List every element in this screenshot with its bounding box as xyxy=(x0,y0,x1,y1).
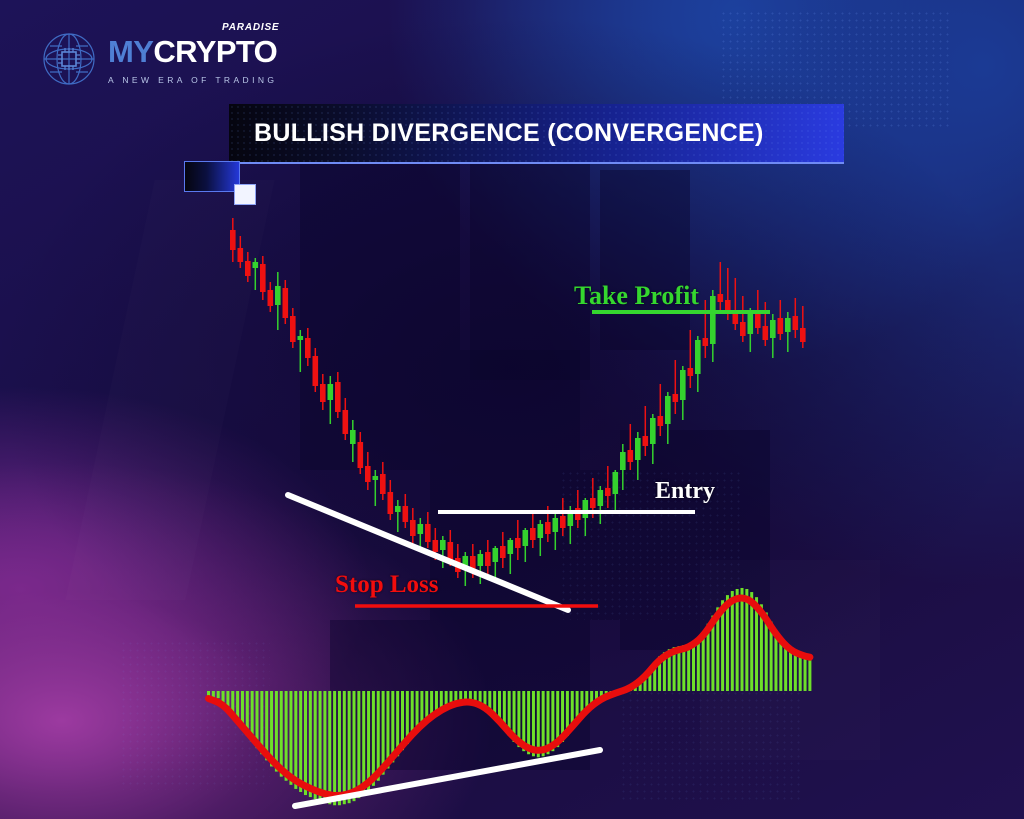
entry-label: Entry xyxy=(655,478,715,505)
macd-histogram-series xyxy=(207,588,811,805)
chart-layer xyxy=(0,0,1024,819)
candlestick-series xyxy=(230,218,806,586)
stop-loss-label: Stop Loss xyxy=(335,571,439,599)
take-profit-label: Take Profit xyxy=(574,281,699,311)
infographic-canvas: MYCRYPTO PARADISE A NEW ERA OF TRADING B… xyxy=(0,0,1024,819)
